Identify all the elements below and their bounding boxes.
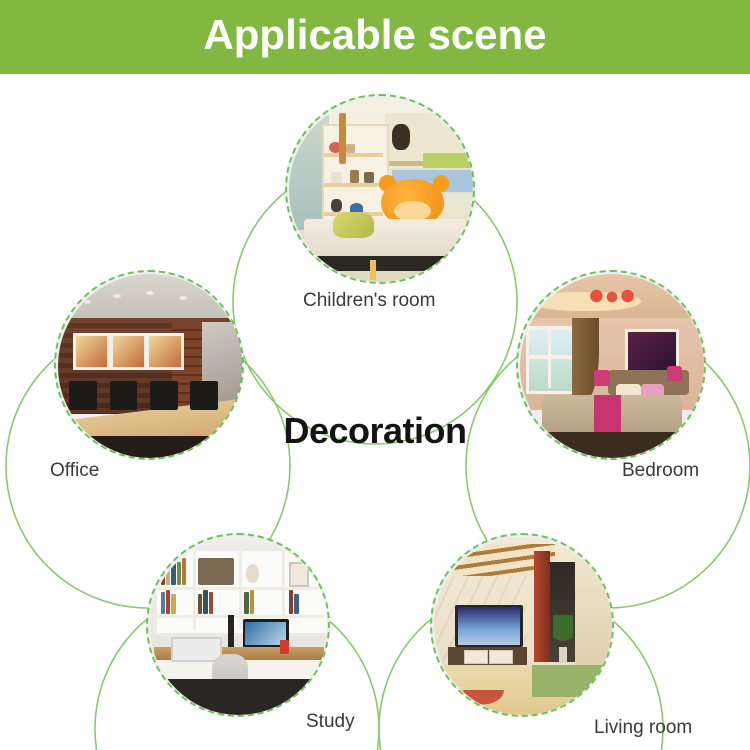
node-bedroom-photo xyxy=(520,274,704,458)
center-label: Decoration xyxy=(235,410,515,452)
node-children-room-circle[interactable] xyxy=(285,94,475,284)
node-study[interactable]: Study xyxy=(146,533,330,717)
node-office-photo xyxy=(58,274,242,458)
node-study-label: Study xyxy=(306,711,355,733)
header-banner: Applicable scene xyxy=(0,0,750,74)
node-study-circle[interactable] xyxy=(146,533,330,717)
screenshot-root: Applicable scene xyxy=(0,0,750,750)
node-children-room-label: Children's room xyxy=(303,290,435,312)
node-office-label: Office xyxy=(50,460,99,482)
node-bedroom-label: Bedroom xyxy=(622,460,699,482)
node-children-room[interactable]: Children's room xyxy=(285,94,475,284)
node-living-room[interactable]: Living room xyxy=(430,533,614,717)
node-living-room-circle[interactable] xyxy=(430,533,614,717)
scene-diagram: Children's room xyxy=(0,74,750,750)
node-bedroom-circle[interactable] xyxy=(516,270,706,460)
node-children-room-photo xyxy=(289,98,473,282)
node-living-room-label: Living room xyxy=(594,717,692,739)
page-title: Applicable scene xyxy=(0,0,750,74)
node-study-photo xyxy=(150,537,328,715)
node-office-circle[interactable] xyxy=(54,270,244,460)
node-living-room-photo xyxy=(434,537,612,715)
node-bedroom[interactable]: Bedroom xyxy=(516,270,706,460)
node-office[interactable]: Office xyxy=(54,270,244,460)
